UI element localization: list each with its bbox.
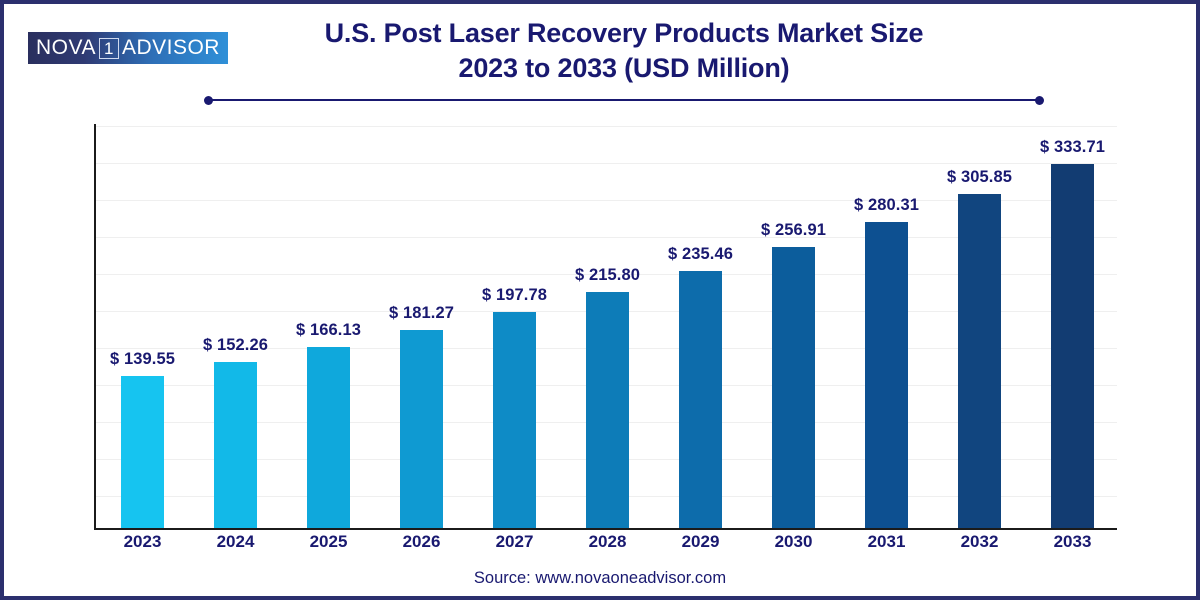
bar-value-label: $ 152.26 (203, 336, 268, 355)
bar-2032[interactable]: $ 305.85 (958, 194, 1001, 528)
x-tick-2026: 2026 (400, 532, 443, 552)
bar-value-label: $ 181.27 (389, 304, 454, 323)
title-divider (204, 96, 1044, 105)
x-tick-2032: 2032 (958, 532, 1001, 552)
bar-value-label: $ 139.55 (110, 350, 175, 369)
bar-rect[interactable] (400, 330, 443, 528)
chart-title: U.S. Post Laser Recovery Products Market… (204, 16, 1044, 85)
nova-advisor-logo: NOVA1ADVISOR (28, 32, 228, 64)
bar-rect[interactable] (307, 347, 350, 528)
bar-2030[interactable]: $ 256.91 (772, 247, 815, 528)
x-axis-tick-labels: 2023202420252026202720282029203020312032… (94, 532, 1117, 562)
bar-rect[interactable] (865, 222, 908, 528)
bar-rect[interactable] (1051, 164, 1094, 528)
x-tick-2025: 2025 (307, 532, 350, 552)
bar-value-label: $ 305.85 (947, 168, 1012, 187)
bar-2027[interactable]: $ 197.78 (493, 312, 536, 528)
bar-2026[interactable]: $ 181.27 (400, 330, 443, 528)
x-tick-2023: 2023 (121, 532, 164, 552)
bar-2029[interactable]: $ 235.46 (679, 271, 722, 528)
bar-value-label: $ 280.31 (854, 196, 919, 215)
bar-rect[interactable] (493, 312, 536, 528)
infographic-canvas: NOVA1ADVISOR U.S. Post Laser Recovery Pr… (0, 0, 1200, 600)
chart-title-line-1: U.S. Post Laser Recovery Products Market… (204, 16, 1044, 51)
plot-area: $ 139.55$ 152.26$ 166.13$ 181.27$ 197.78… (94, 124, 1117, 528)
x-tick-2029: 2029 (679, 532, 722, 552)
x-tick-2031: 2031 (865, 532, 908, 552)
x-tick-2024: 2024 (214, 532, 257, 552)
x-tick-2027: 2027 (493, 532, 536, 552)
chart-title-line-2: 2023 to 2033 (USD Million) (204, 51, 1044, 86)
bar-value-label: $ 166.13 (296, 321, 361, 340)
bar-rect[interactable] (679, 271, 722, 528)
bar-2024[interactable]: $ 152.26 (214, 362, 257, 528)
bar-2028[interactable]: $ 215.80 (586, 292, 629, 528)
bar-2031[interactable]: $ 280.31 (865, 222, 908, 528)
logo-badge-one: 1 (99, 38, 119, 59)
bar-value-label: $ 333.71 (1040, 138, 1105, 157)
divider-dot-right (1035, 96, 1044, 105)
x-axis-line (94, 528, 1117, 530)
bar-value-label: $ 256.91 (761, 221, 826, 240)
logo-text: NOVA1ADVISOR (36, 37, 220, 59)
bar-2033[interactable]: $ 333.71 (1051, 164, 1094, 528)
bar-series: $ 139.55$ 152.26$ 166.13$ 181.27$ 197.78… (94, 124, 1117, 528)
x-tick-2028: 2028 (586, 532, 629, 552)
source-caption: Source: www.novaoneadvisor.com (4, 569, 1196, 588)
bar-rect[interactable] (586, 292, 629, 528)
bar-rect[interactable] (958, 194, 1001, 528)
bar-rect[interactable] (214, 362, 257, 528)
bar-2025[interactable]: $ 166.13 (307, 347, 350, 528)
bar-rect[interactable] (121, 376, 164, 528)
x-tick-2030: 2030 (772, 532, 815, 552)
x-tick-2033: 2033 (1051, 532, 1094, 552)
bar-rect[interactable] (772, 247, 815, 528)
bar-2023[interactable]: $ 139.55 (121, 376, 164, 528)
logo-text-nova: NOVA (36, 36, 96, 59)
bar-value-label: $ 197.78 (482, 286, 547, 305)
divider-line (208, 99, 1040, 101)
bar-value-label: $ 215.80 (575, 266, 640, 285)
bar-value-label: $ 235.46 (668, 245, 733, 264)
